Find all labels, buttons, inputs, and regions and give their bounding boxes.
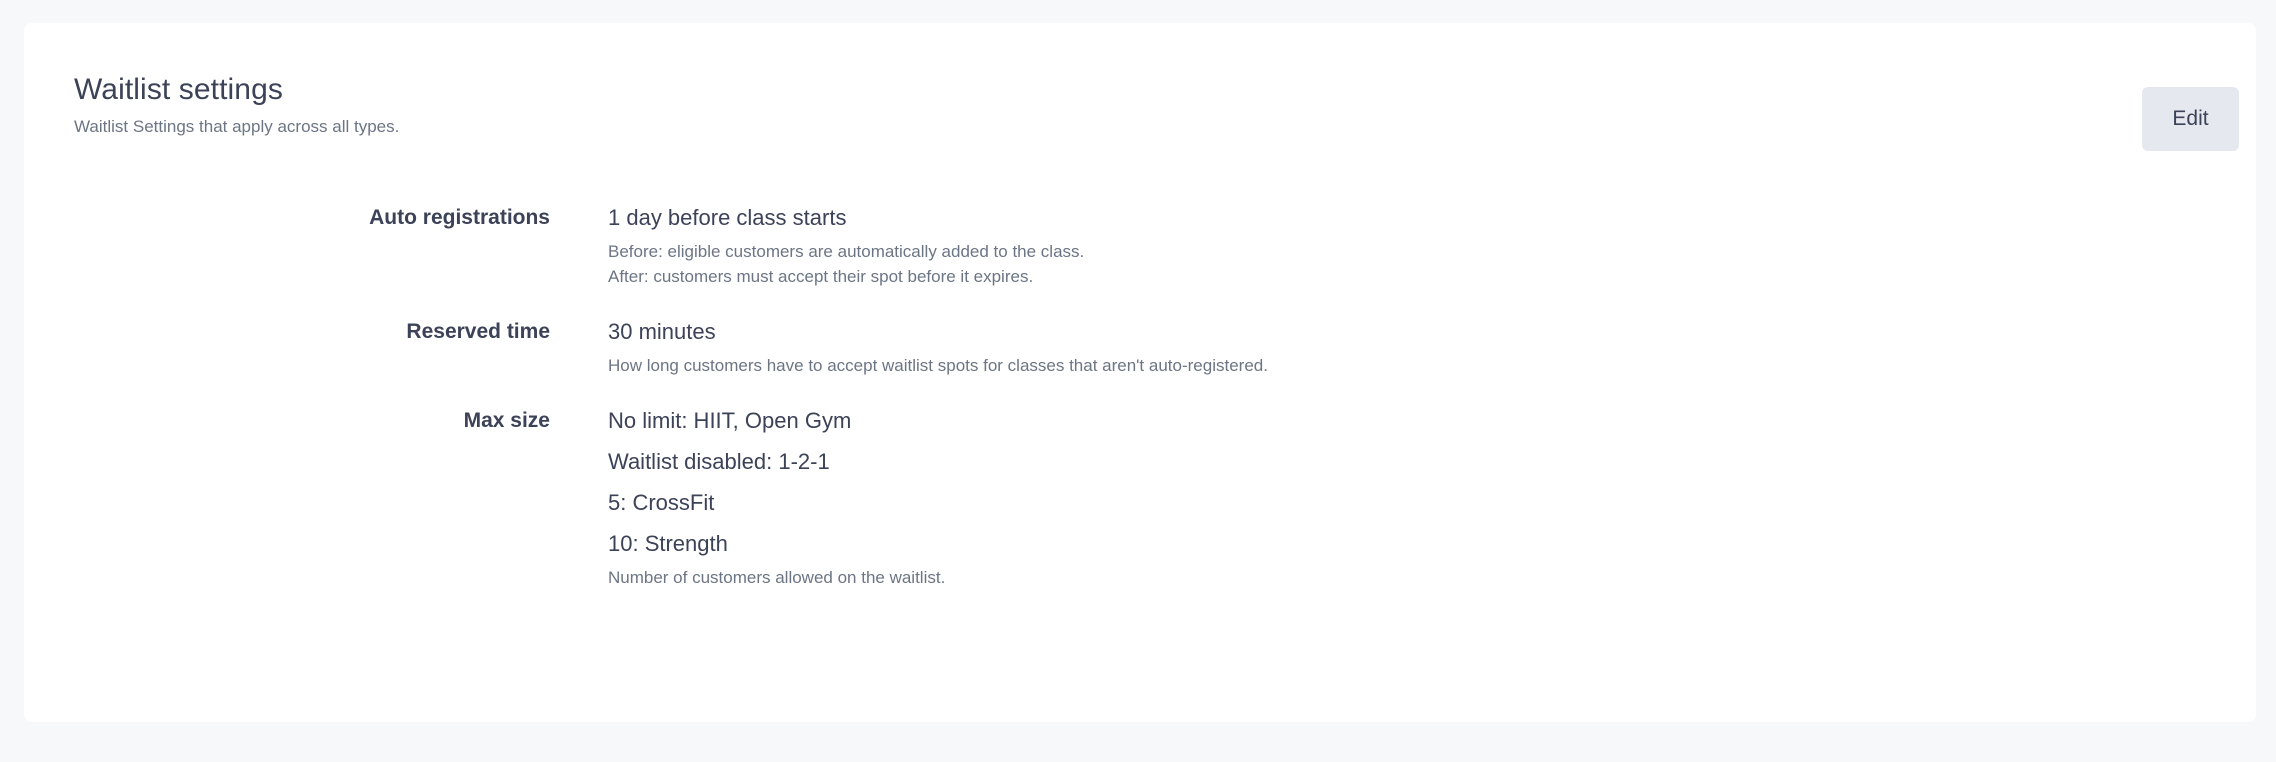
max-size-help: Number of customers allowed on the waitl… (608, 566, 2256, 590)
detail-label-max-size: Max size (24, 406, 550, 436)
max-size-value-disabled: Waitlist disabled: 1-2-1 (608, 447, 2256, 476)
detail-value-reserved-time: 30 minutes How long customers have to ac… (608, 317, 2256, 378)
reserved-time-value: 30 minutes (608, 317, 2256, 346)
max-size-value-no-limit: No limit: HIIT, Open Gym (608, 406, 2256, 435)
max-size-value-ten: 10: Strength (608, 529, 2256, 558)
page-subtitle: Waitlist Settings that apply across all … (74, 109, 2196, 139)
waitlist-settings-detail-list: Auto registrations 1 day before class st… (24, 203, 2256, 590)
page-root: Waitlist settings Waitlist Settings that… (0, 0, 2276, 762)
detail-row-auto-registrations: Auto registrations 1 day before class st… (24, 203, 2256, 289)
edit-button[interactable]: Edit (2142, 87, 2239, 151)
page-title: Waitlist settings (74, 71, 2196, 109)
detail-value-auto-registrations: 1 day before class starts Before: eligib… (608, 203, 2256, 289)
detail-label-auto-registrations: Auto registrations (24, 203, 550, 233)
auto-registrations-help-after: After: customers must accept their spot … (608, 265, 2256, 289)
detail-value-max-size: No limit: HIIT, Open Gym Waitlist disabl… (608, 406, 2256, 590)
detail-row-max-size: Max size No limit: HIIT, Open Gym Waitli… (24, 406, 2256, 590)
waitlist-settings-card: Waitlist settings Waitlist Settings that… (24, 23, 2256, 722)
detail-label-reserved-time: Reserved time (24, 317, 550, 347)
detail-row-reserved-time: Reserved time 30 minutes How long custom… (24, 317, 2256, 378)
card-header: Waitlist settings Waitlist Settings that… (74, 71, 2196, 139)
max-size-value-five: 5: CrossFit (608, 488, 2256, 517)
reserved-time-help: How long customers have to accept waitli… (608, 354, 2256, 378)
auto-registrations-help-before: Before: eligible customers are automatic… (608, 240, 2256, 264)
auto-registrations-value: 1 day before class starts (608, 203, 2256, 232)
